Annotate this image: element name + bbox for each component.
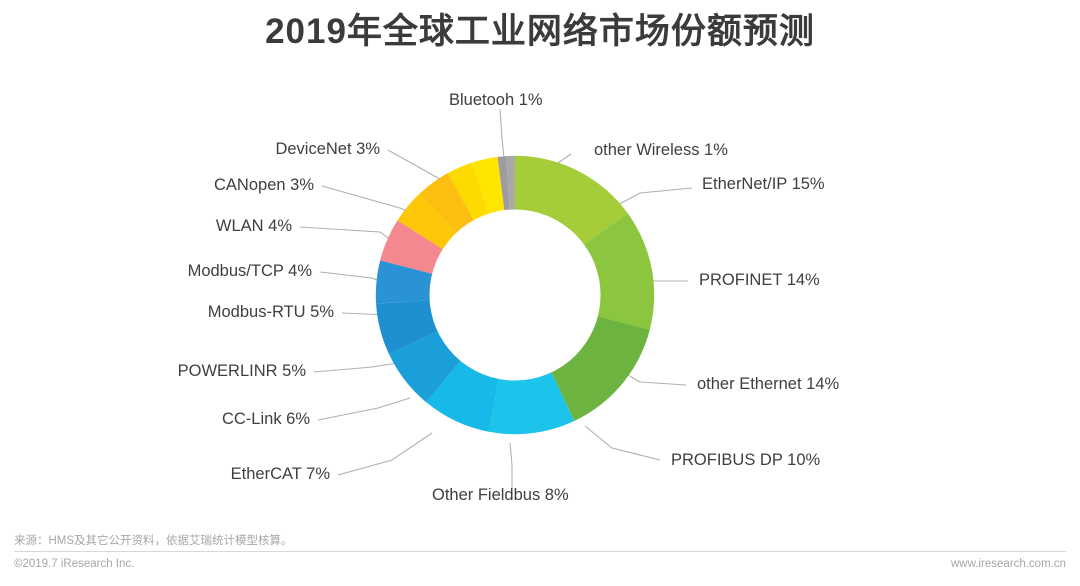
footer: 来源：HMS及其它公开资料，依据艾瑞统计模型核算。 ©2019.7 iResea… <box>0 524 1080 586</box>
slice-label-profinet: PROFINET 14% <box>699 270 820 290</box>
copyright-note: ©2019.7 iResearch Inc. <box>14 558 134 570</box>
slice-label-devicenet: DeviceNet 3% <box>0 139 380 159</box>
donut-graphic <box>370 150 660 440</box>
footer-divider <box>14 551 1066 552</box>
slice-label-ethercat: EtherCAT 7% <box>0 464 330 484</box>
slice-label-bluetooh: Bluetooh 1% <box>449 90 543 110</box>
slice-label-cc-link: CC-Link 6% <box>0 409 310 429</box>
website-link[interactable]: www.iresearch.com.cn <box>951 558 1066 570</box>
slice-label-modbus-tcp: Modbus/TCP 4% <box>0 261 312 281</box>
page-title: 2019年全球工业网络市场份额预测 <box>0 10 1080 54</box>
donut-chart: Bluetooh 1% other Wireless 1% EtherNet/I… <box>0 60 1080 515</box>
slide-canvas: 2019年全球工业网络市场份额预测 <box>0 0 1080 586</box>
source-note: 来源：HMS及其它公开资料，依据艾瑞统计模型核算。 <box>14 532 293 548</box>
slice-label-other-wireless: other Wireless 1% <box>594 140 728 160</box>
slice-label-other-fieldbus: Other Fieldbus 8% <box>432 485 569 505</box>
slice-label-other-ethernet: other Ethernet 14% <box>697 374 839 394</box>
slice-label-powerlinr: POWERLINR 5% <box>0 361 306 381</box>
leader-line-other-fieldbus <box>510 443 512 488</box>
slice-label-wlan: WLAN 4% <box>0 216 292 236</box>
slice-label-profibus-dp: PROFIBUS DP 10% <box>671 450 820 470</box>
slice-label-modbus-rtu: Modbus-RTU 5% <box>0 302 334 322</box>
slice-label-ethernet-ip: EtherNet/IP 15% <box>702 174 825 194</box>
slice-label-canopen: CANopen 3% <box>0 175 314 195</box>
donut-svg <box>370 150 660 440</box>
donut-hole <box>429 209 600 380</box>
